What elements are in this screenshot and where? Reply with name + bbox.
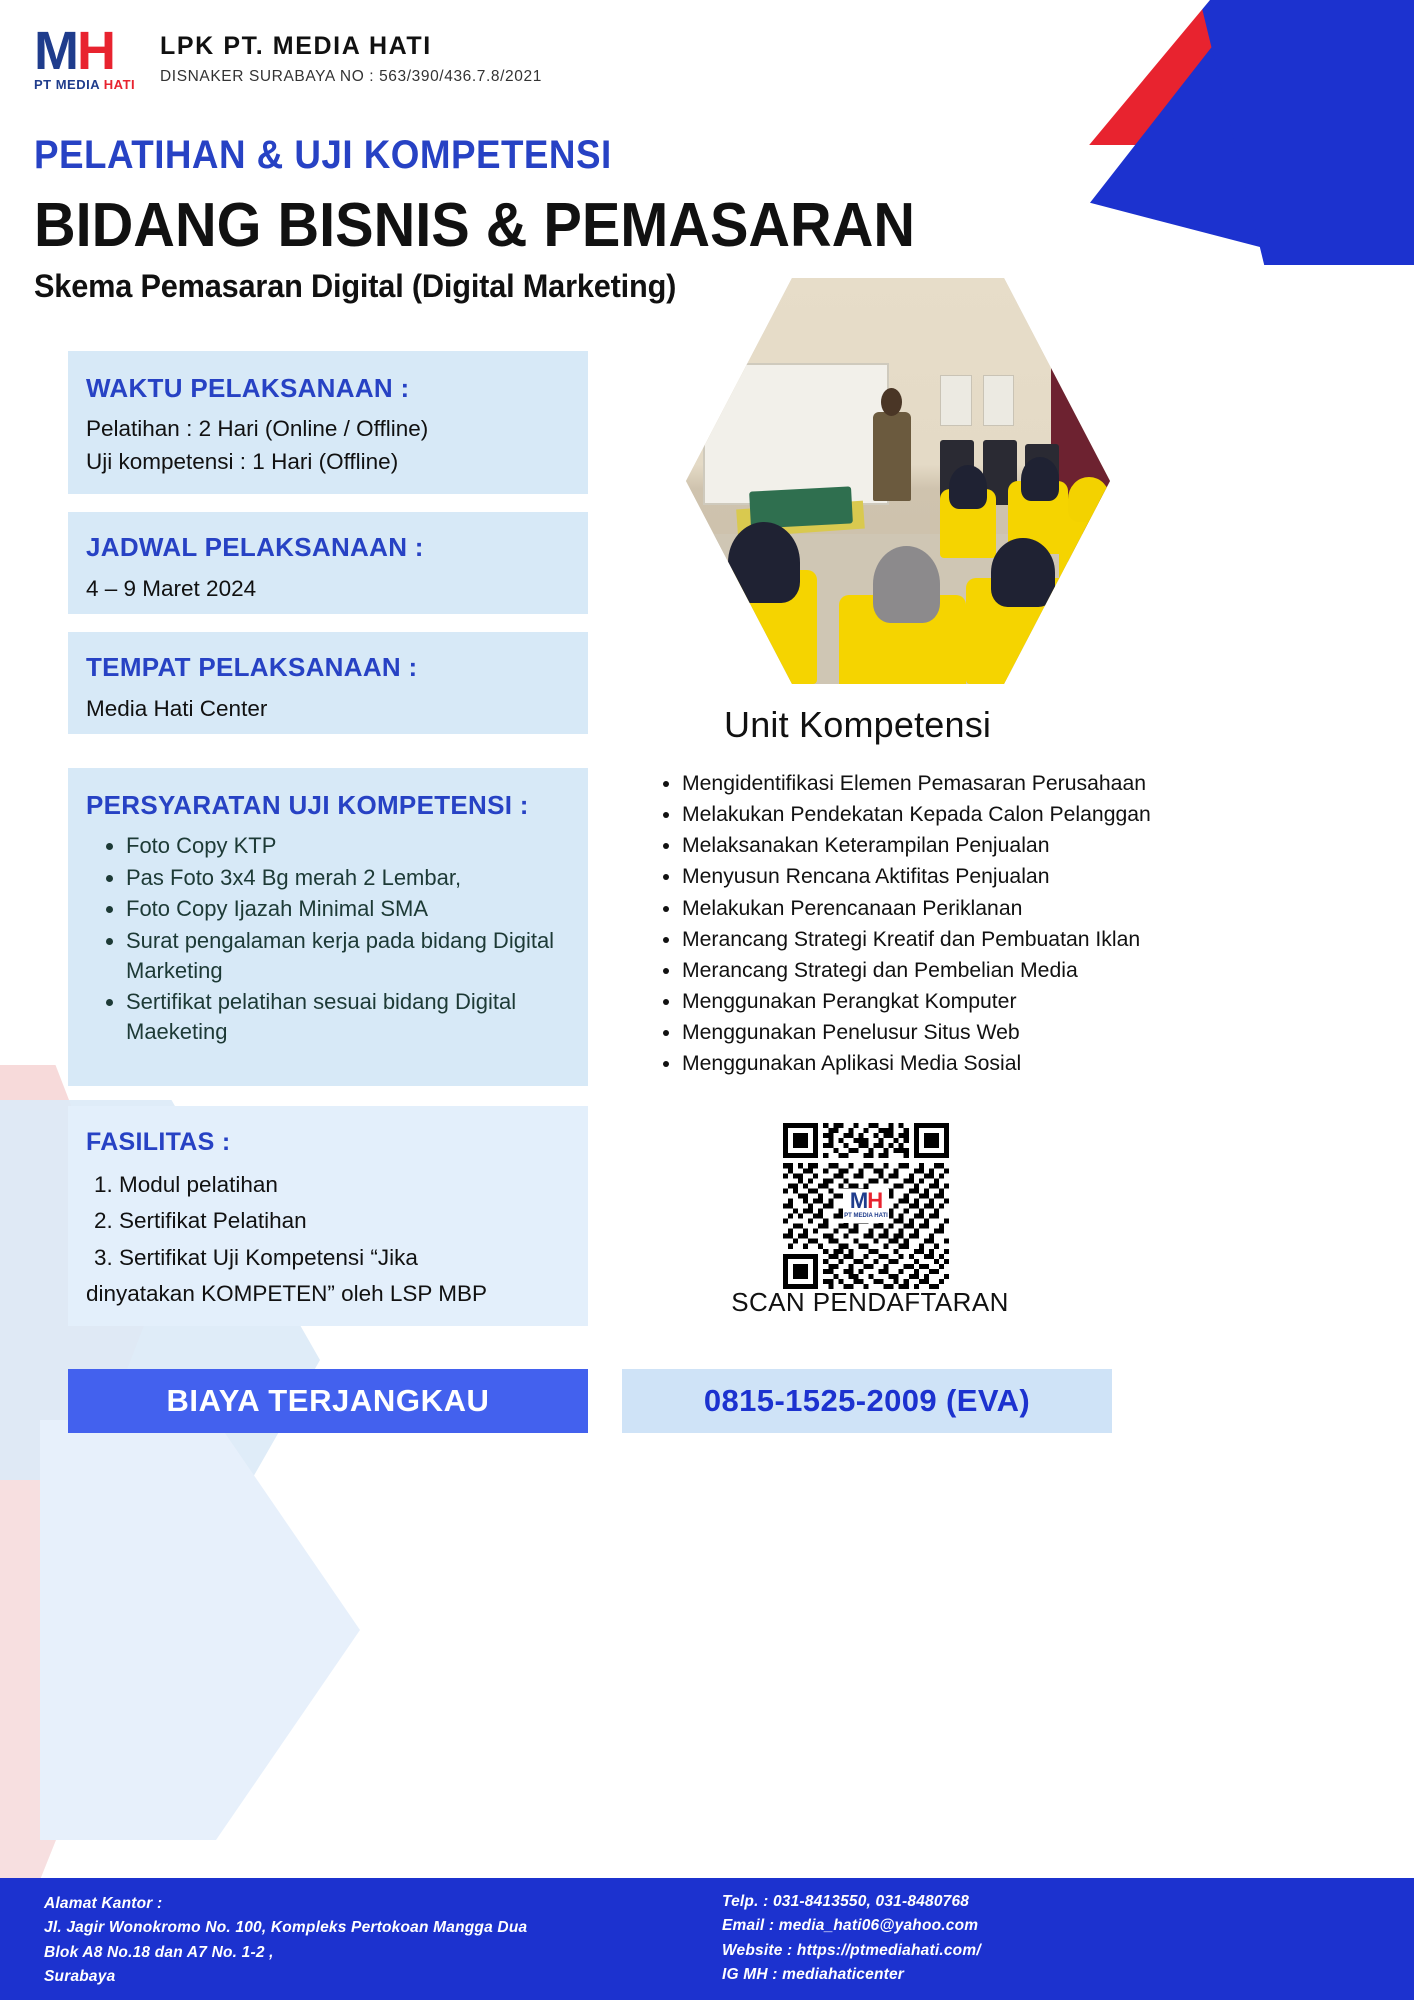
list-item: Pas Foto 3x4 Bg merah 2 Lembar, xyxy=(126,863,588,893)
list-item: 1. Modul pelatihan xyxy=(94,1167,588,1203)
photo-wall-frame xyxy=(940,375,972,426)
footer-address-line-2: Blok A8 No.18 dan A7 No. 1-2 , xyxy=(44,1941,527,1965)
photo-participant-hijab xyxy=(1021,457,1059,502)
waktu-line-2: Uji kompetensi : 1 Hari (Offline) xyxy=(86,446,588,479)
list-item: Foto Copy KTP xyxy=(126,831,588,861)
photo-participant-hijab xyxy=(873,546,941,623)
list-item: Melaksanakan Keterampilan Penjualan xyxy=(682,830,1152,861)
poster-canvas: MH PT MEDIA HATI LPK PT. MEDIA HATI DISN… xyxy=(0,0,1414,2000)
tempat-heading: TEMPAT PELAKSANAAN : xyxy=(86,652,588,683)
footer-contact-group: Telp. : 031-8413550, 031-8480768 Email :… xyxy=(722,1890,981,1988)
list-item: Surat pengalaman kerja pada bidang Digit… xyxy=(126,926,588,985)
photo-participant-hijab xyxy=(1068,477,1110,522)
qr-code[interactable]: MH PT MEDIA HATI xyxy=(783,1123,949,1289)
unit-kompetensi-heading: Unit Kompetensi xyxy=(724,704,991,746)
qr-center-logo: MH PT MEDIA HATI xyxy=(843,1189,889,1223)
waktu-heading: WAKTU PELAKSANAAN : xyxy=(86,373,588,404)
footer-address-group: Alamat Kantor : Jl. Jagir Wonokromo No. … xyxy=(44,1892,527,1990)
footer-website[interactable]: Website : https://ptmediahati.com/ xyxy=(722,1939,981,1963)
logo-letter-m: M xyxy=(34,21,77,81)
page-title: BIDANG BISNIS & PEMASARAN xyxy=(34,190,915,261)
photo-instructor-body xyxy=(873,412,911,501)
logo-monogram: MH xyxy=(34,26,138,76)
logo-letter-h: H xyxy=(77,21,114,81)
logo-wordmark-pt: PT MEDIA xyxy=(34,77,100,92)
company-name: LPK PT. MEDIA HATI xyxy=(160,32,542,61)
biaya-terjangkau-banner: BIAYA TERJANGKAU xyxy=(68,1369,588,1433)
list-item: Merancang Strategi dan Pembelian Media xyxy=(682,955,1152,986)
footer-email[interactable]: Email : media_hati06@yahoo.com xyxy=(722,1914,981,1938)
header-text-group: LPK PT. MEDIA HATI DISNAKER SURABAYA NO … xyxy=(160,26,542,86)
photo-whiteboard xyxy=(703,363,889,505)
list-item: 3. Sertifikat Uji Kompetensi “Jika xyxy=(94,1240,588,1276)
fasilitas-card: FASILITAS : 1. Modul pelatihan 2. Sertif… xyxy=(68,1106,588,1326)
footer-address-label: Alamat Kantor : xyxy=(44,1892,527,1916)
tempat-pelaksanaan-card: TEMPAT PELAKSANAAN : Media Hati Center xyxy=(68,632,588,734)
footer-address-line-3: Surabaya xyxy=(44,1965,527,1989)
footer-address-line-1: Jl. Jagir Wonokromo No. 100, Kompleks Pe… xyxy=(44,1916,527,1940)
logo-wordmark: PT MEDIA HATI xyxy=(34,77,138,92)
jadwal-heading: JADWAL PELAKSANAAN : xyxy=(86,532,588,563)
list-item: Mengidentifikasi Elemen Pemasaran Perusa… xyxy=(682,768,1152,799)
list-item: Menggunakan Aplikasi Media Sosial xyxy=(682,1048,1152,1079)
jadwal-value: 4 – 9 Maret 2024 xyxy=(86,573,588,606)
fasilitas-heading: FASILITAS : xyxy=(86,1128,588,1157)
list-item: Menyusun Rencana Aktifitas Penjualan xyxy=(682,861,1152,892)
list-item: Menggunakan Perangkat Komputer xyxy=(682,986,1152,1017)
license-number: DISNAKER SURABAYA NO : 563/390/436.7.8/2… xyxy=(160,68,542,86)
training-photo xyxy=(686,278,1110,684)
photo-participant-hijab xyxy=(991,538,1055,607)
kicker-title: PELATIHAN & UJI KOMPETENSI xyxy=(34,133,612,178)
list-item: Melakukan Perencanaan Periklanan xyxy=(682,893,1152,924)
photo-instructor-head xyxy=(881,388,902,416)
poster-header: MH PT MEDIA HATI LPK PT. MEDIA HATI DISN… xyxy=(34,26,542,88)
qr-logo-caption: PT MEDIA HATI xyxy=(843,1213,889,1220)
tempat-value: Media Hati Center xyxy=(86,693,588,726)
waktu-pelaksanaan-card: WAKTU PELAKSANAAN : Pelatihan : 2 Hari (… xyxy=(68,351,588,494)
contact-phone-label: 0815-1525-2009 (EVA) xyxy=(704,1383,1030,1419)
footer-instagram[interactable]: IG MH : mediahaticenter xyxy=(722,1963,981,1987)
biaya-terjangkau-label: BIAYA TERJANGKAU xyxy=(166,1383,489,1419)
qr-logo-letter-h: H xyxy=(867,1188,882,1213)
photo-wall-frame xyxy=(983,375,1015,426)
list-item: Foto Copy Ijazah Minimal SMA xyxy=(126,894,588,924)
persyaratan-card: PERSYARATAN UJI KOMPETENSI : Foto Copy K… xyxy=(68,768,588,1086)
footer-telp: Telp. : 031-8413550, 031-8480768 xyxy=(722,1890,981,1914)
contact-phone-banner[interactable]: 0815-1525-2009 (EVA) xyxy=(622,1369,1112,1433)
list-item: Menggunakan Penelusur Situs Web xyxy=(682,1017,1152,1048)
photo-participant-hijab xyxy=(728,522,800,603)
poster-footer: Alamat Kantor : Jl. Jagir Wonokromo No. … xyxy=(0,1878,1414,2000)
photo-participant-hijab xyxy=(949,465,987,510)
waktu-line-1: Pelatihan : 2 Hari (Online / Offline) xyxy=(86,413,588,446)
list-item: Merancang Strategi Kreatif dan Pembuatan… xyxy=(682,924,1152,955)
list-item: 2. Sertifikat Pelatihan xyxy=(94,1203,588,1239)
media-hati-logo: MH PT MEDIA HATI xyxy=(34,26,138,88)
jadwal-pelaksanaan-card: JADWAL PELAKSANAAN : 4 – 9 Maret 2024 xyxy=(68,512,588,614)
qr-logo-letter-m: M xyxy=(850,1188,867,1213)
unit-kompetensi-list: Mengidentifikasi Elemen Pemasaran Perusa… xyxy=(646,768,1152,1080)
chevron-blue-left-lower xyxy=(40,1420,360,1840)
logo-wordmark-hati: HATI xyxy=(104,77,135,92)
list-item: Melakukan Pendekatan Kepada Calon Pelang… xyxy=(682,799,1152,830)
photo-room-background xyxy=(686,278,1110,684)
list-item: Sertifikat pelatihan sesuai bidang Digit… xyxy=(126,987,588,1046)
list-item: dinyatakan KOMPETEN” oleh LSP MBP xyxy=(86,1276,588,1312)
persyaratan-list: Foto Copy KTP Pas Foto 3x4 Bg merah 2 Le… xyxy=(86,831,588,1047)
scheme-subtitle: Skema Pemasaran Digital (Digital Marketi… xyxy=(34,268,676,305)
persyaratan-heading: PERSYARATAN UJI KOMPETENSI : xyxy=(86,790,588,821)
scan-pendaftaran-label: SCAN PENDAFTARAN xyxy=(730,1287,1010,1318)
